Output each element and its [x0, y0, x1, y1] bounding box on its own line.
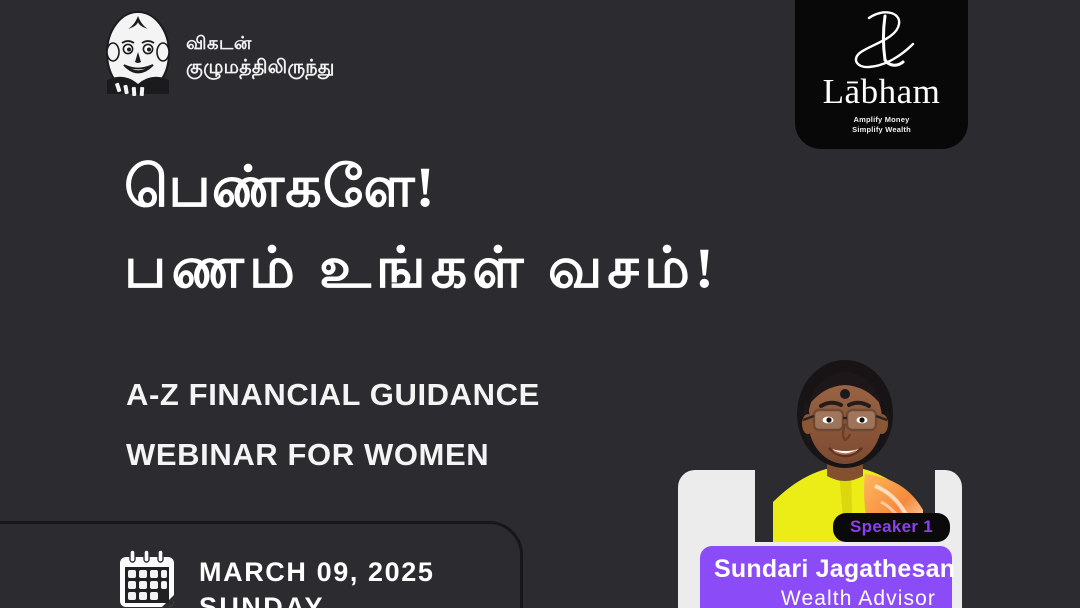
status-badge: Speaker 1: [833, 513, 950, 542]
speaker-name: Sundari Jagathesan: [714, 553, 938, 585]
labham-tagline: Amplify Money Simplify Wealth: [852, 115, 911, 135]
event-date: MARCH 09, 2025: [199, 555, 435, 590]
subtitle-line-2: WEBINAR FOR WOMEN: [126, 425, 540, 485]
event-date-row: MARCH 09, 2025 SUNDAY: [118, 549, 435, 608]
labham-tagline-line-1: Amplify Money: [852, 115, 911, 125]
vikatan-line-2: குழுமத்திலிருந்து: [186, 58, 335, 77]
event-date-text: MARCH 09, 2025 SUNDAY: [199, 549, 435, 608]
labham-logo-tile: Lābham Amplify Money Simplify Wealth: [795, 0, 968, 149]
labham-wordmark: Lābham: [823, 74, 941, 109]
poster-subtitle: A-Z FINANCIAL GUIDANCE WEBINAR FOR WOMEN: [126, 365, 540, 485]
vikatan-brand-block: விகடன் குழுமத்திலிருந்து: [104, 10, 335, 96]
subtitle-line-1: A-Z FINANCIAL GUIDANCE: [126, 365, 540, 425]
poster-headline: பெண்களே! பணம் உங்கள் வசம்!: [124, 148, 719, 310]
speaker-role: Wealth Advisor: [714, 585, 938, 608]
labham-monogram-icon: [839, 10, 925, 72]
vikatan-mascot-icon: [104, 10, 172, 96]
vikatan-line-1: விகடன்: [186, 34, 335, 52]
speaker-name-card: Sundari Jagathesan Wealth Advisor: [700, 546, 952, 608]
event-day: SUNDAY: [199, 590, 435, 608]
headline-line-1: பெண்களே!: [124, 148, 719, 229]
vikatan-wordmark: விகடன் குழுமத்திலிருந்து: [186, 30, 335, 77]
webinar-promo-poster: விகடன் குழுமத்திலிருந்து Lābham Amplify …: [0, 0, 1080, 608]
calendar-icon: [118, 549, 176, 608]
headline-line-2: பணம் உங்கள் வசம்!: [124, 229, 719, 310]
labham-tagline-line-2: Simplify Wealth: [852, 125, 911, 135]
